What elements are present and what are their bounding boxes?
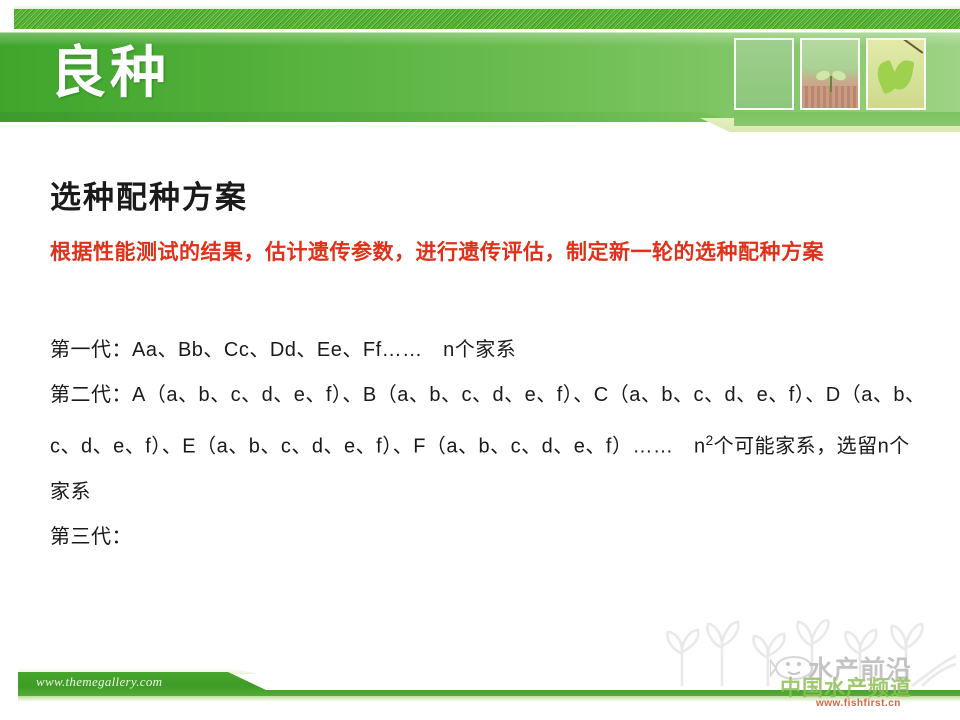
generation-line-1: 第一代：Aa、Bb、Cc、Dd、Ee、Ff…… n个家系	[50, 328, 930, 373]
leaves-photo-thumbnail	[866, 38, 926, 110]
channel-watermark: 水产前沿 中国水产频道 www.fishfirst.cn	[770, 648, 960, 714]
blank-green-thumbnail	[734, 38, 794, 110]
highlight-paragraph: 根据性能测试的结果，估计遗传参数，进行遗传评估，制定新一轮的选种配种方案	[50, 234, 910, 272]
footer-url-text: www.themegallery.com	[36, 674, 162, 690]
generation-line-2-superscript: 2	[706, 433, 714, 448]
header-striped-band	[14, 9, 960, 29]
leaf-right-icon	[892, 59, 915, 92]
section-heading: 选种配种方案	[50, 172, 248, 217]
watermark-url: www.fishfirst.cn	[816, 698, 901, 709]
generation-line-2: 第二代：A（a、b、c、d、e、f）、B（a、b、c、d、e、f）、C（a、b、…	[50, 373, 930, 515]
branch-icon	[895, 38, 924, 54]
sprout-stem-icon	[830, 76, 832, 92]
slide: 良种 选种配种方案 根据性能测试的结果，估计遗传参数，进行遗传评估，制定新一轮的…	[0, 0, 960, 720]
generation-list: 第一代：Aa、Bb、Cc、Dd、Ee、Ff…… n个家系 第二代：A（a、b、c…	[50, 328, 930, 560]
slide-body: 选种配种方案 根据性能测试的结果，估计遗传参数，进行遗传评估，制定新一轮的选种配…	[0, 130, 960, 650]
slide-header: 良种	[0, 0, 960, 130]
generation-line-3: 第三代：	[50, 515, 930, 560]
page-title: 良种	[50, 33, 570, 113]
header-thumbnail-strip	[734, 38, 930, 110]
sprout-leaf-left-icon	[815, 69, 831, 82]
seedling-photo-thumbnail	[800, 38, 860, 110]
sprout-leaf-right-icon	[831, 69, 847, 82]
